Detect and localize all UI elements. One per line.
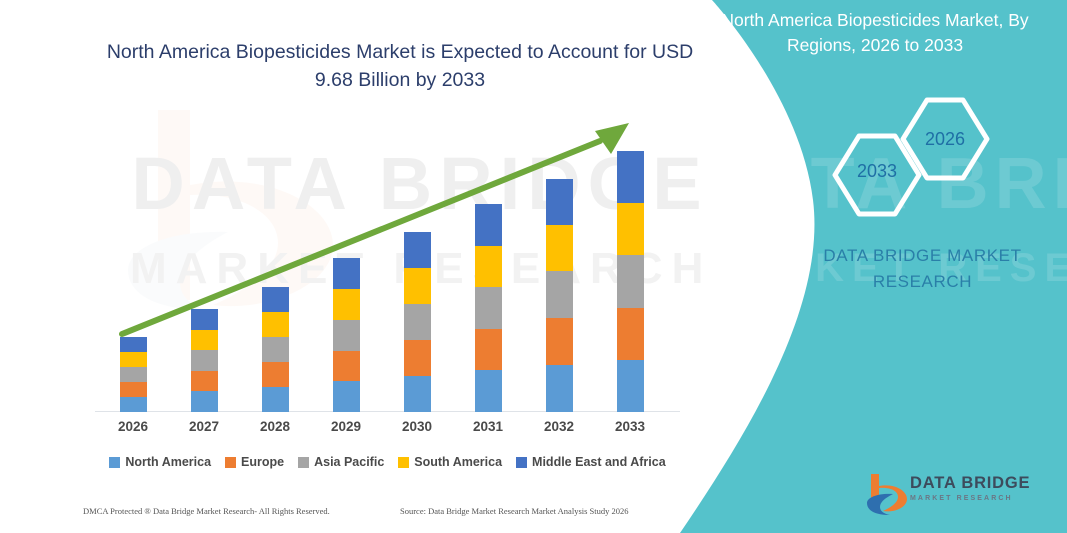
bar-segment-middle-east-and-africa[interactable] — [546, 179, 573, 225]
bar-2026[interactable] — [120, 337, 147, 412]
legend-item-asia-pacific[interactable]: Asia Pacific — [298, 455, 384, 469]
bar-segment-north-america[interactable] — [120, 397, 147, 412]
bar-segment-middle-east-and-africa[interactable] — [262, 287, 289, 312]
brand-logo: DATA BRIDGE MARKET RESEARCH — [865, 470, 1040, 518]
x-axis-label-2031: 2031 — [453, 419, 523, 434]
legend-swatch-icon — [516, 457, 527, 468]
bar-2032[interactable] — [546, 179, 573, 412]
bar-segment-middle-east-and-africa[interactable] — [404, 232, 431, 268]
x-axis-label-2033: 2033 — [595, 419, 665, 434]
bar-segment-south-america[interactable] — [262, 312, 289, 337]
page-title: North America Biopesticides Market is Ex… — [105, 38, 695, 95]
bar-segment-europe[interactable] — [191, 371, 218, 391]
bar-segment-asia-pacific[interactable] — [262, 337, 289, 362]
bar-segment-europe[interactable] — [404, 340, 431, 376]
hexagon-2033-label: 2033 — [832, 161, 922, 182]
panel-brand-text: DATA BRIDGE MARKET RESEARCH — [790, 243, 1055, 294]
bar-segment-asia-pacific[interactable] — [475, 287, 502, 329]
bar-segment-south-america[interactable] — [120, 352, 147, 367]
bar-segment-europe[interactable] — [617, 308, 644, 360]
panel-brand-line-2: RESEARCH — [790, 269, 1055, 295]
bar-segment-middle-east-and-africa[interactable] — [475, 204, 502, 246]
bar-2030[interactable] — [404, 232, 431, 412]
stacked-bar-chart — [95, 130, 675, 412]
bar-segment-asia-pacific[interactable] — [404, 304, 431, 340]
footer: DMCA Protected ® Data Bridge Market Rese… — [0, 506, 700, 526]
bar-segment-europe[interactable] — [475, 329, 502, 370]
bar-segment-north-america[interactable] — [617, 360, 644, 412]
bar-segment-asia-pacific[interactable] — [617, 255, 644, 308]
bar-segment-asia-pacific[interactable] — [546, 271, 573, 318]
bar-segment-south-america[interactable] — [333, 289, 360, 320]
legend-swatch-icon — [225, 457, 236, 468]
chart-legend: North AmericaEuropeAsia PacificSouth Ame… — [95, 455, 680, 469]
bar-segment-north-america[interactable] — [191, 391, 218, 412]
bar-segment-south-america[interactable] — [191, 330, 218, 350]
x-axis-label-2030: 2030 — [382, 419, 452, 434]
bar-2027[interactable] — [191, 309, 218, 412]
bar-2029[interactable] — [333, 258, 360, 412]
legend-label: North America — [125, 455, 211, 469]
bar-segment-north-america[interactable] — [262, 387, 289, 412]
bar-segment-asia-pacific[interactable] — [333, 320, 360, 351]
bar-segment-asia-pacific[interactable] — [120, 367, 147, 382]
databridge-mark-icon — [865, 470, 910, 518]
footer-source: Source: Data Bridge Market Research Mark… — [400, 506, 629, 516]
bar-segment-south-america[interactable] — [475, 246, 502, 287]
x-axis-label-2029: 2029 — [311, 419, 381, 434]
bar-segment-middle-east-and-africa[interactable] — [333, 258, 360, 289]
bar-segment-europe[interactable] — [262, 362, 289, 387]
legend-label: Asia Pacific — [314, 455, 384, 469]
bar-2028[interactable] — [262, 287, 289, 412]
infographic-canvas: DATA BRIDGE MARKET RESEARCH North Americ… — [0, 0, 1067, 533]
panel-title: North America Biopesticides Market, By R… — [700, 8, 1050, 59]
legend-label: Middle East and Africa — [532, 455, 666, 469]
bar-segment-north-america[interactable] — [404, 376, 431, 412]
legend-item-north-america[interactable]: North America — [109, 455, 211, 469]
bar-segment-middle-east-and-africa[interactable] — [191, 309, 218, 330]
legend-label: South America — [414, 455, 502, 469]
legend-item-europe[interactable]: Europe — [225, 455, 284, 469]
bar-segment-middle-east-and-africa[interactable] — [120, 337, 147, 352]
x-axis-label-2026: 2026 — [98, 419, 168, 434]
bar-segment-europe[interactable] — [546, 318, 573, 365]
bar-segment-south-america[interactable] — [617, 203, 644, 255]
bar-segment-north-america[interactable] — [475, 370, 502, 412]
logo-name: DATA BRIDGE — [910, 474, 1040, 493]
bar-segment-asia-pacific[interactable] — [191, 350, 218, 371]
footer-copyright: DMCA Protected ® Data Bridge Market Rese… — [83, 506, 330, 516]
legend-label: Europe — [241, 455, 284, 469]
bar-2033[interactable] — [617, 151, 644, 412]
bar-segment-north-america[interactable] — [546, 365, 573, 412]
logo-tagline: MARKET RESEARCH — [910, 495, 1040, 502]
legend-swatch-icon — [398, 457, 409, 468]
x-axis-labels: 20262027202820292030203120322033 — [95, 419, 675, 443]
x-axis-label-2027: 2027 — [169, 419, 239, 434]
x-axis-label-2028: 2028 — [240, 419, 310, 434]
bar-segment-south-america[interactable] — [546, 225, 573, 271]
x-axis-label-2032: 2032 — [524, 419, 594, 434]
bar-segment-north-america[interactable] — [333, 381, 360, 412]
bar-segment-south-america[interactable] — [404, 268, 431, 304]
bar-2031[interactable] — [475, 204, 502, 412]
bar-segment-europe[interactable] — [333, 351, 360, 381]
legend-swatch-icon — [109, 457, 120, 468]
legend-item-south-america[interactable]: South America — [398, 455, 502, 469]
legend-swatch-icon — [298, 457, 309, 468]
panel-brand-line-1: DATA BRIDGE MARKET — [790, 243, 1055, 269]
bar-segment-middle-east-and-africa[interactable] — [617, 151, 644, 203]
legend-item-middle-east-and-africa[interactable]: Middle East and Africa — [516, 455, 666, 469]
bar-segment-europe[interactable] — [120, 382, 147, 397]
